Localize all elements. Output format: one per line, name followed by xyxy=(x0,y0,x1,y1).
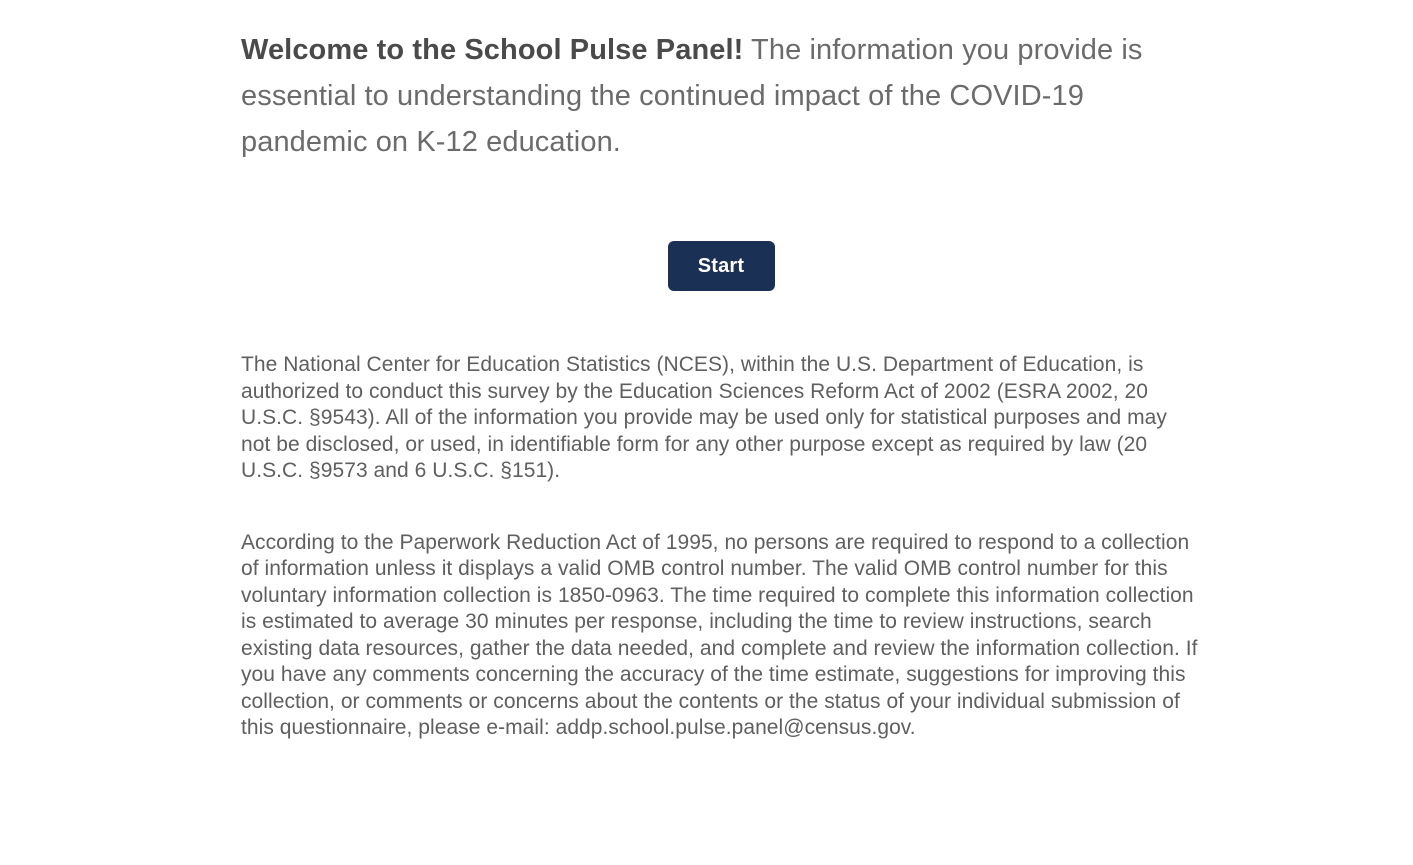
survey-welcome-page: Welcome to the School Pulse Panel! The i… xyxy=(0,0,1413,865)
welcome-heading: Welcome to the School Pulse Panel! The i… xyxy=(241,0,1201,165)
start-button-row: Start xyxy=(241,241,1201,291)
welcome-heading-lead: Welcome to the School Pulse Panel! xyxy=(241,34,743,66)
authorization-notice: The National Center for Education Statis… xyxy=(241,352,1199,485)
start-button[interactable]: Start xyxy=(668,241,775,291)
paperwork-reduction-act-notice: According to the Paperwork Reduction Act… xyxy=(241,530,1199,742)
content-column: Welcome to the School Pulse Panel! The i… xyxy=(241,0,1201,742)
